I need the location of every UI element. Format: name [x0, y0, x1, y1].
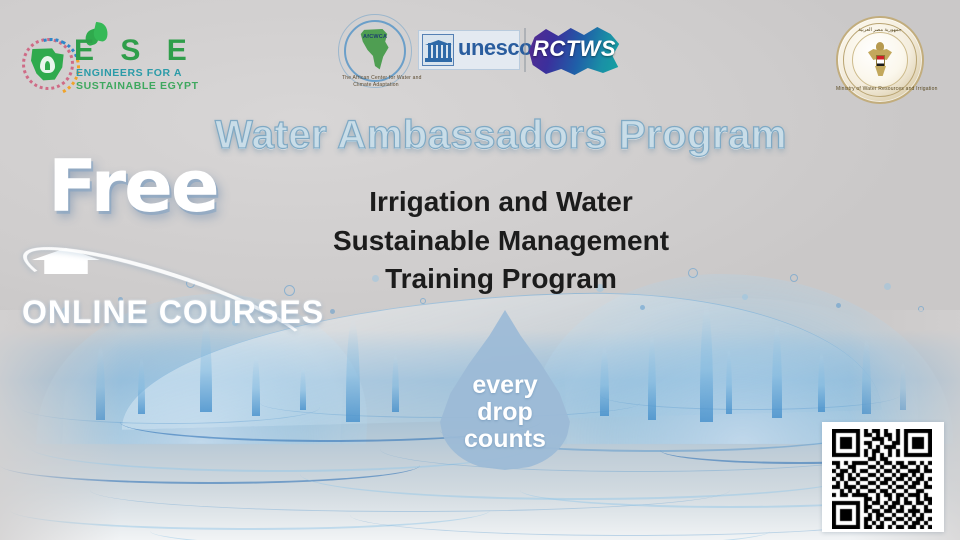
water-droplet: [836, 303, 841, 308]
water-fade-left: [0, 310, 120, 540]
drop-slogan-line-1: every: [440, 372, 570, 399]
qr-code-canvas[interactable]: [832, 429, 932, 529]
ese-abbrev: E S E: [74, 36, 196, 66]
ministry-arc-bottom: Ministry of Water Resources and Irrigati…: [836, 86, 924, 92]
afcwca-logo: AfCWCA The African Center for Water and …: [336, 14, 416, 94]
afcwca-mark-label: AfCWCA: [363, 34, 387, 40]
free-badge: Free: [48, 150, 218, 222]
unesco-logo: unesco: [418, 30, 520, 70]
ministry-arc-top: جمهورية مصر العربية: [836, 27, 924, 33]
unesco-temple-icon: [422, 34, 454, 66]
ese-tagline-line2: SUSTAINABLE EGYPT: [76, 80, 199, 93]
water-droplet: [640, 305, 645, 310]
drop-slogan-line-3: counts: [440, 426, 570, 453]
water-droplet: [420, 298, 426, 304]
unesco-wordmark: unesco: [458, 37, 532, 59]
water-droplet: [330, 309, 335, 314]
ministry-of-water-resources-logo: جمهورية مصر العربية Ministry of Water Re…: [828, 12, 932, 110]
drop-slogan: every drop counts: [440, 372, 570, 453]
ese-tagline-line1: ENGINEERS FOR A: [76, 67, 182, 80]
qr-code[interactable]: [822, 422, 944, 532]
logo-divider: [524, 28, 526, 72]
water-drop-badge: every drop counts: [440, 310, 570, 470]
online-courses-label: ONLINE COURSES: [22, 296, 324, 328]
rctws-wordmark: RCTWS: [527, 38, 622, 60]
afcwca-arc-line2: Climate Adaptation: [342, 82, 410, 88]
poster-canvas: E S E ENGINEERS FOR A SUSTAINABLE EGYPT …: [0, 0, 960, 540]
drop-slogan-line-2: drop: [440, 399, 570, 426]
ese-logo: E S E ENGINEERS FOR A SUSTAINABLE EGYPT: [22, 22, 218, 94]
rctws-logo: RCTWS: [527, 26, 622, 76]
eagle-of-saladin-icon: [868, 42, 892, 76]
afcwca-arc-line1: The African Center for Water and: [342, 75, 410, 81]
